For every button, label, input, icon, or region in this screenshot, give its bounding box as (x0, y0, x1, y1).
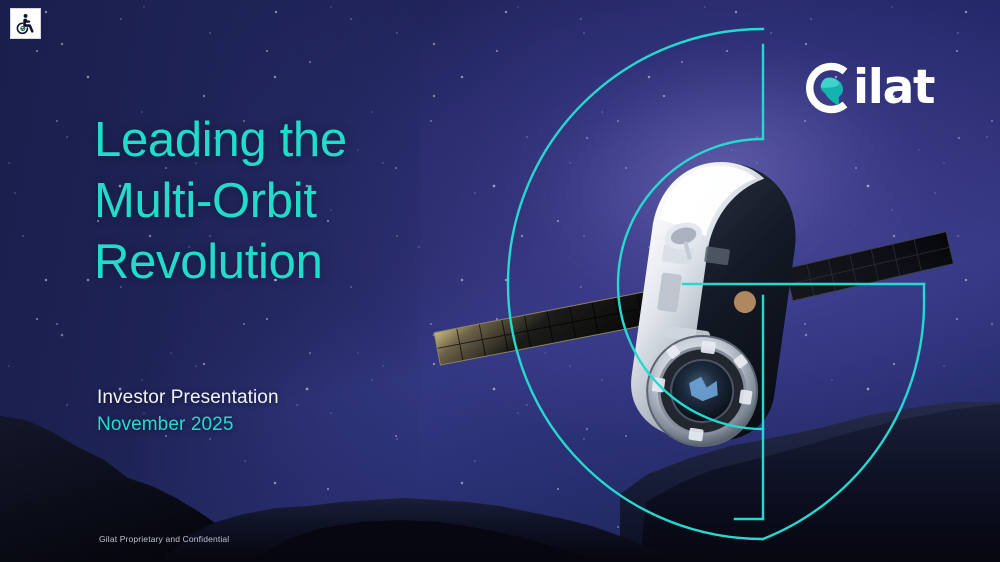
accessibility-widget-button[interactable] (10, 8, 41, 39)
presentation-date: November 2025 (97, 412, 279, 437)
gilat-wordmark: ilat (853, 64, 934, 111)
subtitle-block: Investor Presentation November 2025 (97, 385, 279, 437)
gilat-logo: ilat (798, 57, 946, 119)
page-title: Leading the Multi-Orbit Revolution (94, 110, 524, 293)
wheelchair-accessibility-icon (15, 13, 37, 35)
presentation-title-slide: Leading the Multi-Orbit Revolution Inves… (0, 0, 1000, 562)
subtitle-text: Investor Presentation (97, 385, 279, 410)
confidentiality-footnote: Gilat Proprietary and Confidential (99, 534, 229, 544)
gilat-ring-icon (798, 59, 856, 117)
